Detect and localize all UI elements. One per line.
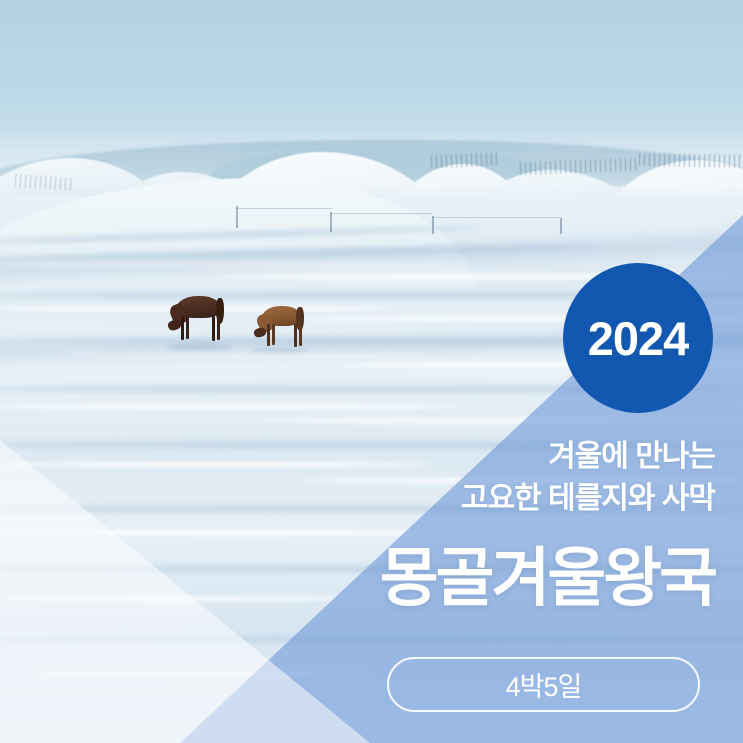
- year-badge: 2024: [563, 263, 713, 413]
- page-title: 몽골겨울왕국: [25, 545, 715, 612]
- promo-poster: 2024 겨울에 만나는 고요한 테를지와 사막 몽골겨울왕국 4박5일: [0, 0, 743, 743]
- headline-line-2: 고요한 테를지와 사막: [25, 479, 715, 518]
- headline-line-1: 겨울에 만나는: [25, 437, 715, 476]
- duration-badge-label: 4박5일: [506, 665, 582, 704]
- year-badge-label: 2024: [588, 315, 689, 362]
- duration-badge: 4박5일: [387, 657, 700, 712]
